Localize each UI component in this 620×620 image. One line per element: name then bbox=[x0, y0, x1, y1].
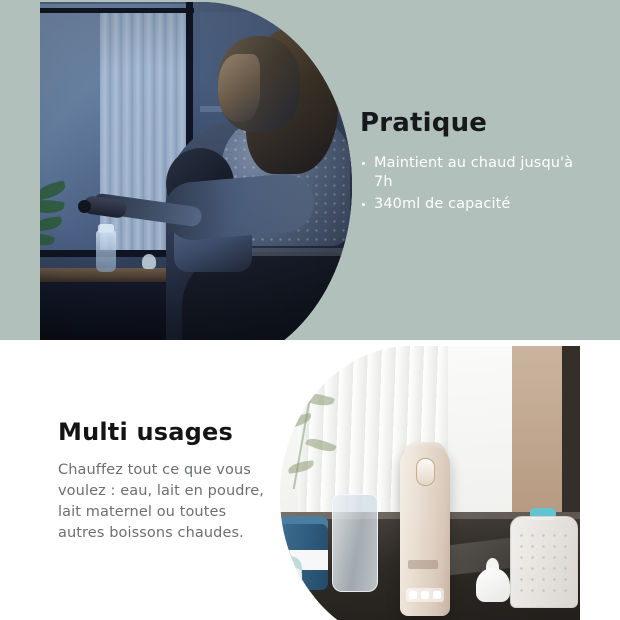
bottle-warmer-product-photo bbox=[280, 346, 580, 620]
multi-usages-paragraph: Chauffez tout ce que vous voulez : eau, … bbox=[58, 460, 308, 544]
thermos-lid-button bbox=[416, 458, 435, 486]
thermos-control-panel bbox=[406, 588, 444, 602]
product-feature-sheet: Pratique Maintient au chaud jusqu'à 7h 3… bbox=[0, 0, 620, 620]
bullet-item-keeps-warm: Maintient au chaud jusqu'à 7h bbox=[360, 154, 590, 192]
multi-usages-heading: Multi usages bbox=[58, 420, 308, 444]
glass-jar bbox=[332, 494, 378, 592]
mint-formula-container bbox=[280, 568, 302, 620]
photo-scene-top bbox=[40, 2, 352, 340]
paragraph-line-4: autres boissons chaudes. bbox=[58, 523, 308, 544]
paragraph-line-3: lait maternel ou toutes bbox=[58, 502, 308, 523]
paragraph-line-2: voulez : eau, lait en poudre, bbox=[58, 481, 308, 502]
milk-bag-texture bbox=[516, 530, 570, 596]
pratique-copy-block: Pratique Maintient au chaud jusqu'à 7h 3… bbox=[360, 110, 590, 217]
bottle-teat-foreground bbox=[476, 568, 510, 602]
bullet-item-capacity: 340ml de capacité bbox=[360, 195, 590, 214]
section-pratique: Pratique Maintient au chaud jusqu'à 7h 3… bbox=[0, 0, 620, 340]
section-multi-usages: Multi usages Chauffez tout ce que vous v… bbox=[0, 340, 620, 620]
multi-usages-copy-block: Multi usages Chauffez tout ce que vous v… bbox=[58, 420, 308, 544]
paragraph-line-1: Chauffez tout ce que vous bbox=[58, 460, 308, 481]
photo-vignette-top bbox=[40, 2, 352, 340]
thermos-brand-logo bbox=[408, 560, 438, 569]
pratique-bullet-list: Maintient au chaud jusqu'à 7h 340ml de c… bbox=[360, 154, 590, 214]
mother-holding-baby-night-photo bbox=[40, 2, 352, 340]
pratique-heading: Pratique bbox=[360, 110, 590, 136]
